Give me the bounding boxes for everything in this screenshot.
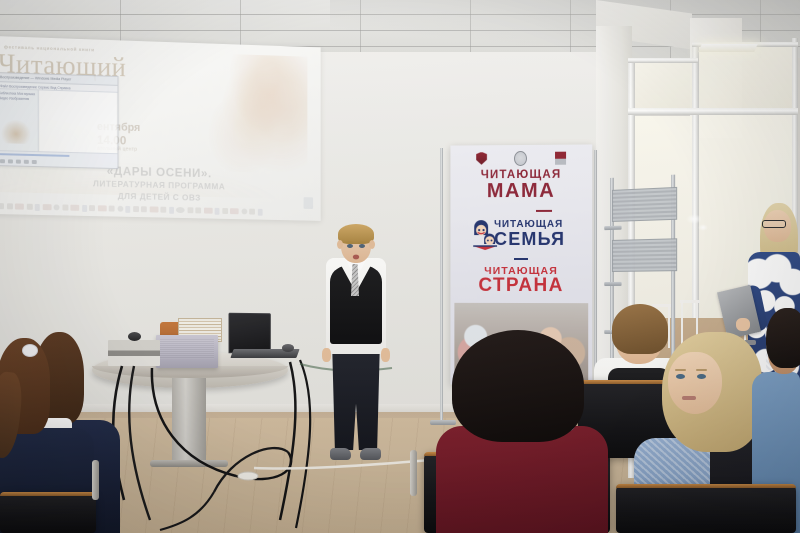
- window-content-area: [40, 90, 117, 154]
- boy-shoe-right: [360, 448, 381, 460]
- boy-hand-right: [381, 348, 390, 362]
- computer-mouse[interactable]: [282, 344, 294, 352]
- media-player-window[interactable]: Воспроизведение — Windows Media Player Ф…: [0, 72, 118, 169]
- chair-arm-left: [410, 450, 417, 496]
- portable-speaker: [156, 335, 218, 368]
- crest-logo-icon: [476, 152, 487, 165]
- dark-hair: [452, 330, 584, 442]
- bookmark-logo-icon: [555, 151, 566, 164]
- banner-divider-2: [514, 258, 528, 260]
- blond-girl-brow-left: [675, 369, 686, 371]
- blond-girl-brow-right: [696, 369, 707, 371]
- presenter-glasses: [762, 220, 786, 228]
- chair-far-left[interactable]: [0, 492, 96, 533]
- blond-girl-face: [668, 352, 722, 414]
- progress-bar[interactable]: [0, 153, 69, 157]
- photo-scene: фестиваль национальной книги Читающий ен…: [0, 0, 800, 533]
- laptop-screen[interactable]: [229, 313, 271, 354]
- seal-logo-icon: [514, 150, 527, 165]
- corner-logo: [304, 197, 313, 209]
- boy-shoe-left: [330, 448, 351, 460]
- ceiling-light-fixture: [698, 44, 758, 52]
- banner-stand-foot: [430, 420, 456, 425]
- right-boy-hair: [766, 308, 800, 368]
- previous-icon[interactable]: [8, 159, 13, 163]
- autumn-tree-graphic: [202, 53, 307, 174]
- stop-icon[interactable]: [24, 160, 29, 164]
- transport-controls[interactable]: [0, 159, 37, 164]
- boy-hand-left: [322, 348, 331, 362]
- volume-icon[interactable]: [32, 160, 37, 164]
- player-control-bar[interactable]: [0, 150, 117, 168]
- banner-logo-row: [450, 149, 592, 166]
- presenter-hand: [736, 318, 750, 331]
- blond-girl-eye-right: [697, 374, 706, 379]
- blond-girl-eye-left: [676, 374, 685, 379]
- audio-device: [108, 340, 160, 366]
- banner-line-6: СТРАНА: [450, 275, 592, 297]
- banner-line-4: СЕМЬЯ: [494, 229, 592, 250]
- maroon-sweater: [436, 426, 608, 533]
- banner-line-2: МАМА: [450, 180, 592, 204]
- next-icon[interactable]: [16, 160, 21, 164]
- seated-boy-hair: [612, 304, 668, 354]
- girl1-hair-tie: [22, 344, 38, 357]
- chair-arm-mid: [92, 460, 99, 500]
- table-pedestal: [172, 378, 206, 464]
- device-knob[interactable]: [128, 332, 141, 341]
- blond-girl-mouth: [682, 396, 696, 400]
- chair-front-right[interactable]: [616, 484, 796, 533]
- play-icon[interactable]: [0, 159, 5, 163]
- boy-face-features: [341, 236, 371, 264]
- table-base: [150, 460, 228, 467]
- projection-screen: фестиваль национальной книги Читающий ен…: [0, 36, 321, 221]
- banner-stand-left-pole: [440, 148, 443, 423]
- banner-divider-1: [536, 210, 552, 212]
- album-art-thumbnail: [1, 119, 31, 144]
